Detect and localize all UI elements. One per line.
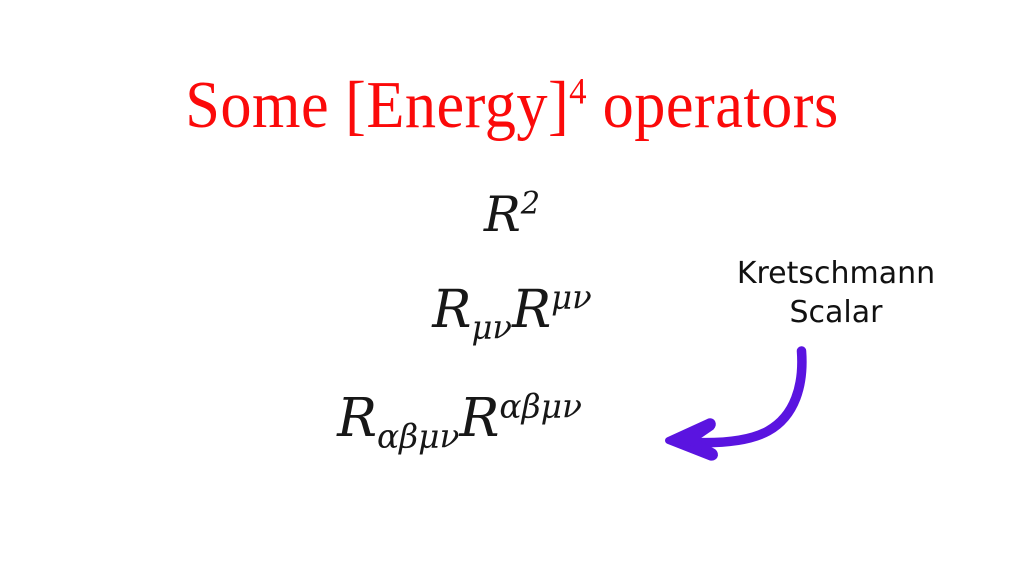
formula-3-subscript: αβμν — [377, 417, 460, 456]
title-text-after: operators — [587, 68, 839, 142]
formula-1-superscript: 2 — [521, 187, 540, 222]
page-title: Some [Energy]4 operators — [36, 72, 988, 139]
slide-canvas: Some [Energy]4 operators R2 RμνRμν Rαβμν… — [0, 0, 1024, 576]
annotation-kretschmann-scalar: Kretschmann Scalar — [706, 254, 966, 332]
title-exponent: 4 — [569, 72, 586, 113]
formula-3-superscript: αβμν — [499, 386, 582, 425]
formula-3-second-base: R — [460, 388, 500, 449]
formula-2-superscript: μν — [551, 279, 592, 317]
annotation-line-2: Scalar — [706, 293, 966, 332]
formula-3-base: R — [337, 388, 377, 449]
formula-2-second-base: R — [512, 280, 551, 340]
formula-ricci-scalar-squared: R2 — [0, 190, 1024, 239]
formula-2-subscript: μν — [471, 308, 512, 346]
curved-arrow-icon — [640, 330, 840, 470]
formula-2-base: R — [432, 280, 471, 340]
formula-kretschmann-scalar: RαβμνRαβμν — [0, 392, 1024, 445]
annotation-line-1: Kretschmann — [706, 254, 966, 293]
title-text-before: Some [Energy] — [185, 68, 569, 142]
formula-1-base: R — [484, 186, 521, 243]
